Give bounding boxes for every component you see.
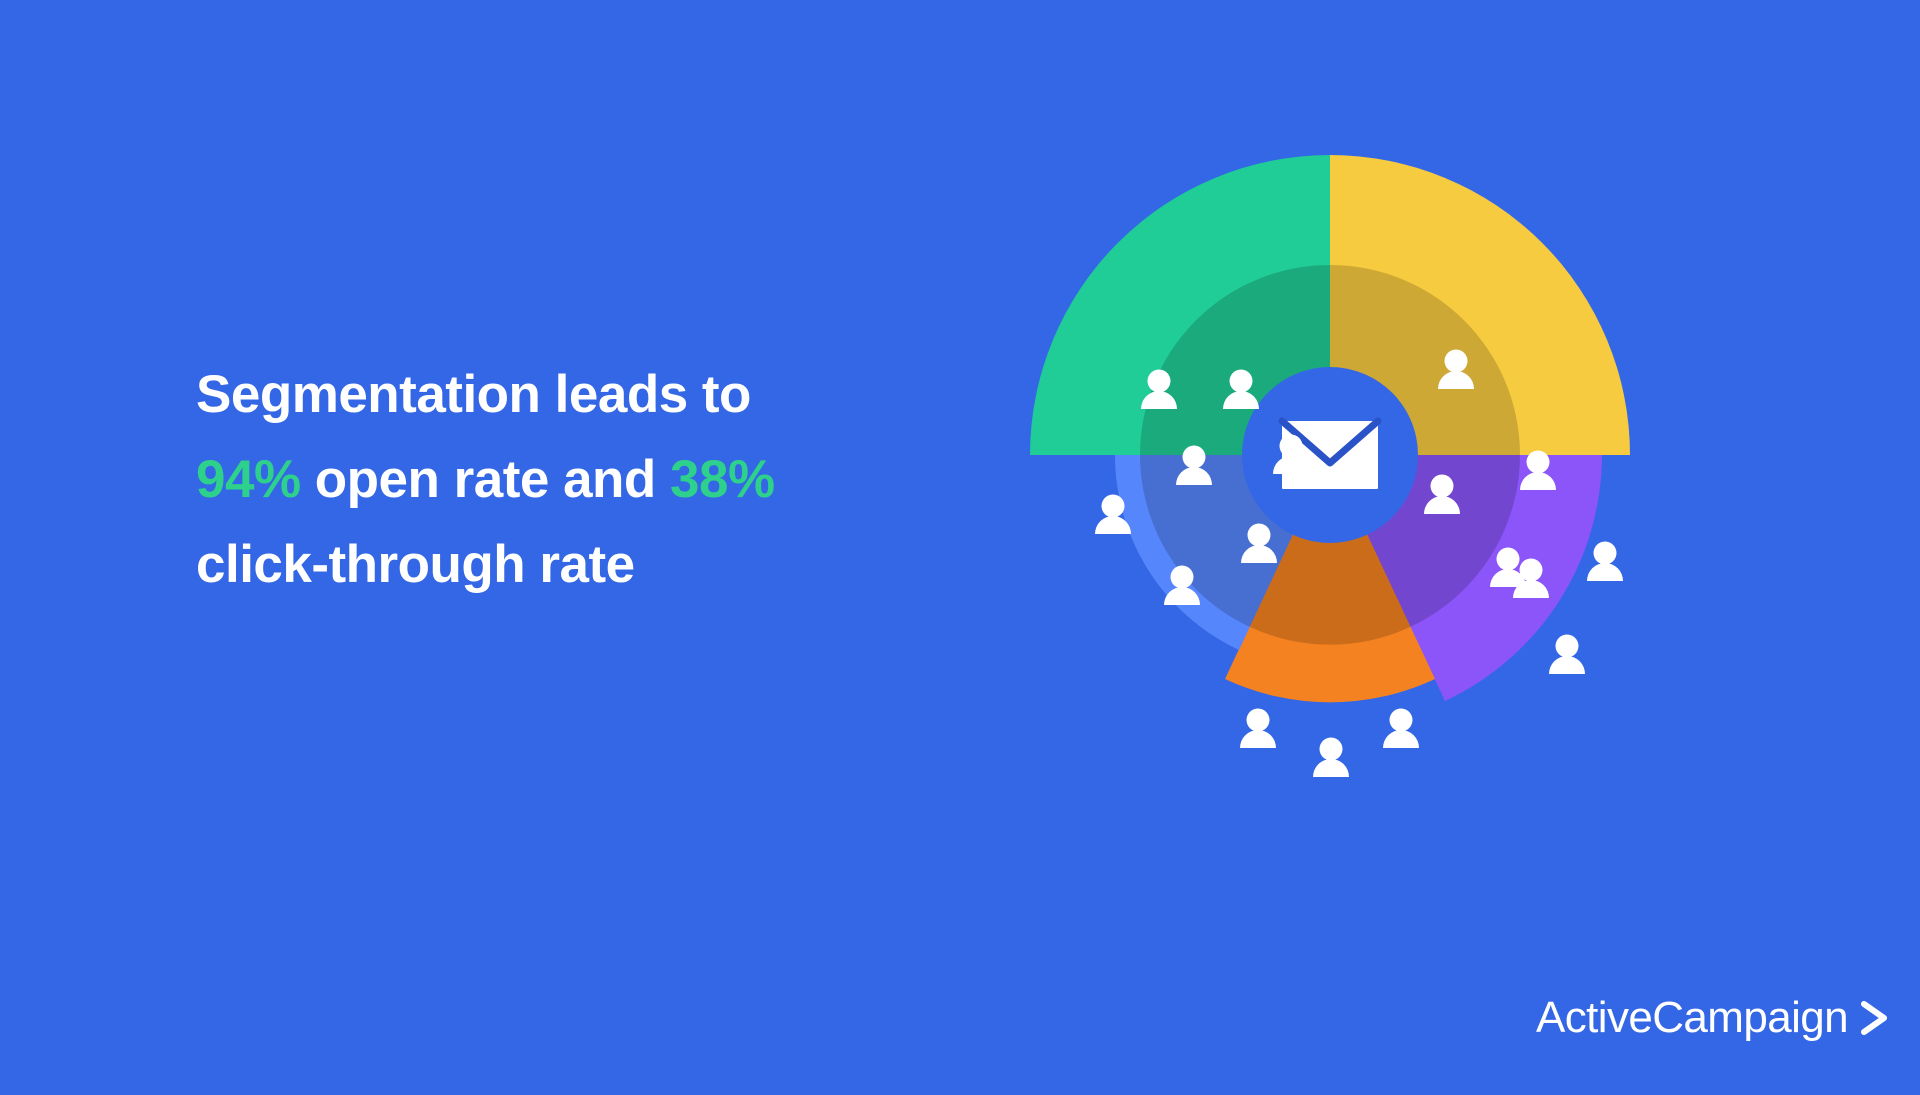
wheel-people-orange bbox=[1240, 709, 1419, 778]
headline-block: Segmentation leads to 94% open rate and … bbox=[196, 352, 896, 607]
headline-line-2: 94% open rate and 38% bbox=[196, 437, 896, 522]
segmentation-wheel-svg bbox=[960, 130, 1700, 850]
headline-line-1-text: Segmentation leads to bbox=[196, 365, 751, 424]
wheel-center bbox=[1242, 367, 1418, 543]
stat-click-through-rate: 38% bbox=[670, 450, 775, 509]
stat-open-rate: 94% bbox=[196, 450, 301, 509]
brand-logo[interactable]: ActiveCampaign bbox=[1536, 996, 1892, 1040]
chevron-right-icon bbox=[1858, 998, 1892, 1038]
brand-wordmark: ActiveCampaign bbox=[1536, 996, 1848, 1040]
headline-line-3: click-through rate bbox=[196, 522, 896, 607]
headline-line-3-text: click-through rate bbox=[196, 535, 635, 594]
headline-line-2-middle: open rate and bbox=[301, 450, 670, 509]
headline-line-1: Segmentation leads to bbox=[196, 352, 896, 437]
segmentation-wheel bbox=[960, 130, 1700, 850]
slide-canvas: Segmentation leads to 94% open rate and … bbox=[0, 0, 1920, 1095]
